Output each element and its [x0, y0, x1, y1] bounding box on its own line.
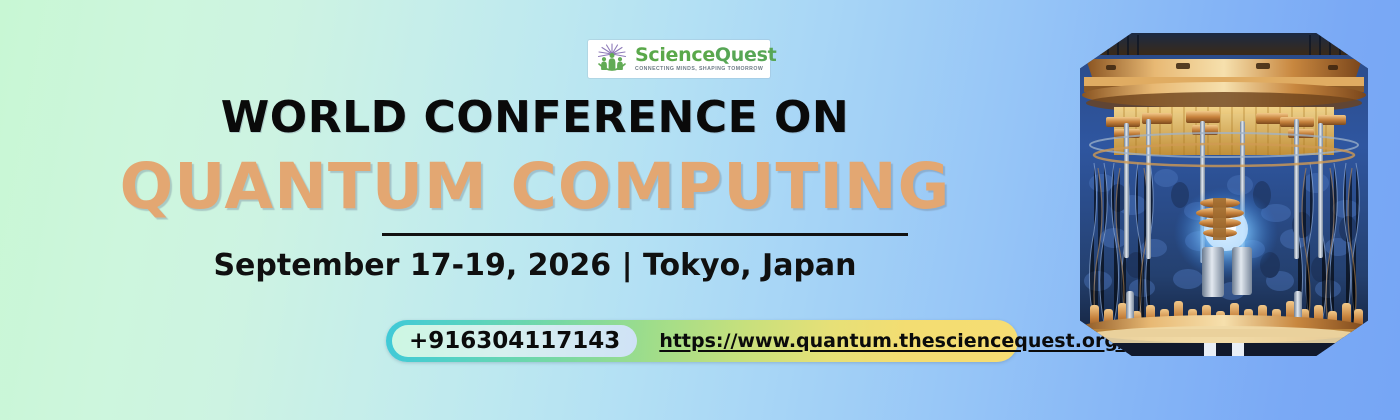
logo-tagline: CONNECTING MINDS, SHAPING TOMORROW	[635, 67, 776, 72]
logo-wordmark: ScienceQuest CONNECTING MINDS, SHAPING T…	[635, 46, 776, 72]
event-dateline: September 17-19, 2026 | Tokyo, Japan	[0, 248, 1070, 283]
conference-banner: ScienceQuest CONNECTING MINDS, SHAPING T…	[0, 0, 1400, 420]
quantum-computer-image	[1080, 33, 1368, 356]
page-subtitle: QUANTUM COMPUTING	[0, 150, 1070, 223]
page-title: WORLD CONFERENCE ON	[0, 92, 1070, 143]
website-link[interactable]: https://www.quantum.thesciencequest.org/	[659, 330, 1125, 352]
logo-name-part2: Quest	[715, 44, 776, 66]
divider-rule	[382, 233, 908, 236]
sciencequest-logo[interactable]: ScienceQuest CONNECTING MINDS, SHAPING T…	[588, 40, 770, 78]
people-starburst-icon	[594, 42, 630, 76]
logo-name-part1: Science	[635, 44, 715, 66]
logo-name: ScienceQuest	[635, 46, 776, 65]
contact-bar: +916304117143 https://www.quantum.thesci…	[386, 320, 1018, 362]
phone-number[interactable]: +916304117143	[392, 325, 637, 357]
